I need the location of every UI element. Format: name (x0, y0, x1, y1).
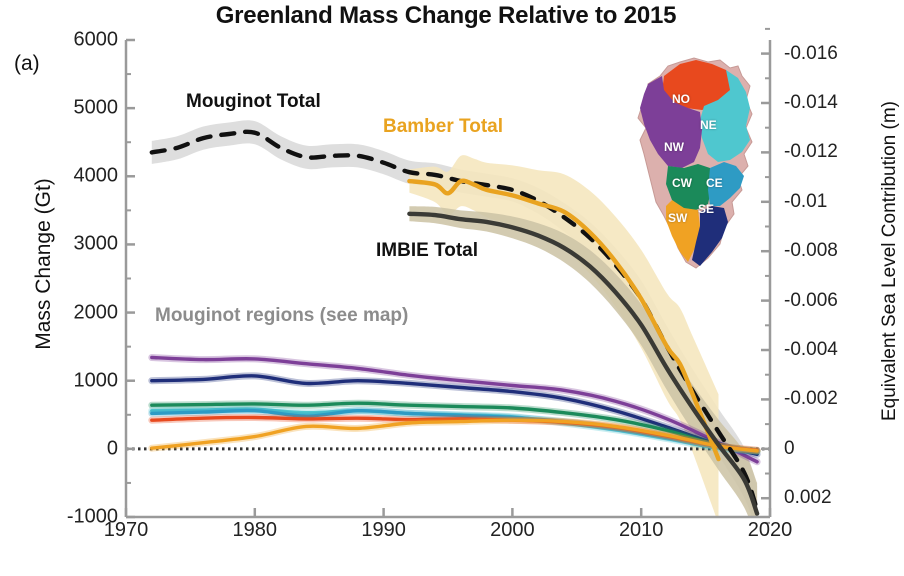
x-tick-label: 2000 (467, 519, 557, 542)
x-tick-label: 1970 (81, 519, 171, 542)
y2-tick-label: -0.016 (784, 43, 864, 65)
y2-tick-label: 0 (784, 438, 864, 460)
y2-tick-label: -0.008 (784, 240, 864, 262)
map-region-label-ce: CE (706, 176, 723, 190)
map-region-label-sw: SW (668, 211, 687, 225)
figure-panel-a: (a) Greenland Mass Change Relative to 20… (0, 0, 904, 576)
annotation-mouginot-total: Mouginot Total (186, 91, 321, 113)
y2-tick-label: -0.014 (784, 92, 864, 114)
x-axis-ticklabels: 197019801990200020102020 (0, 519, 904, 553)
x-tick-label: 1990 (339, 519, 429, 542)
y-tick-label: 6000 (54, 29, 118, 52)
y-tick-label: 1000 (54, 369, 118, 392)
y2-tick-label: -0.012 (784, 141, 864, 163)
x-tick-label: 2020 (725, 519, 815, 542)
y-tick-label: 5000 (54, 97, 118, 120)
map-region-label-nw: NW (664, 140, 684, 154)
y2-tick-label: 0.002 (784, 487, 864, 509)
annotation-imbie-total: IMBIE Total (376, 240, 478, 262)
y2-tick-label: -0.004 (784, 339, 864, 361)
y-tick-label: 0 (54, 437, 118, 460)
y2-tick-label: -0.01 (784, 191, 864, 213)
y-tick-label: 2000 (54, 301, 118, 324)
map-region-label-ne: NE (700, 118, 717, 132)
map-region-label-cw: CW (672, 176, 692, 190)
x-tick-label: 2010 (596, 519, 686, 542)
annotation-bamber-total: Bamber Total (383, 116, 503, 138)
y-tick-label: 3000 (54, 233, 118, 256)
y2-tick-label: -0.006 (784, 290, 864, 312)
plot-area (0, 0, 904, 576)
greenland-map-inset: NONENWCWCESWSE (634, 56, 760, 272)
y-tick-label: 4000 (54, 165, 118, 188)
annotation-mouginot-regions: Mouginot regions (see map) (155, 305, 408, 327)
y-axis-right-ticklabels: -0.016-0.014-0.012-0.01-0.008-0.006-0.00… (784, 0, 866, 576)
y2-tick-label: -0.002 (784, 388, 864, 410)
map-region-label-se: SE (698, 202, 714, 216)
map-region-label-no: NO (672, 92, 690, 106)
x-tick-label: 1980 (210, 519, 300, 542)
y-axis-left-ticklabels: -10000100020003000400050006000 (52, 0, 118, 576)
